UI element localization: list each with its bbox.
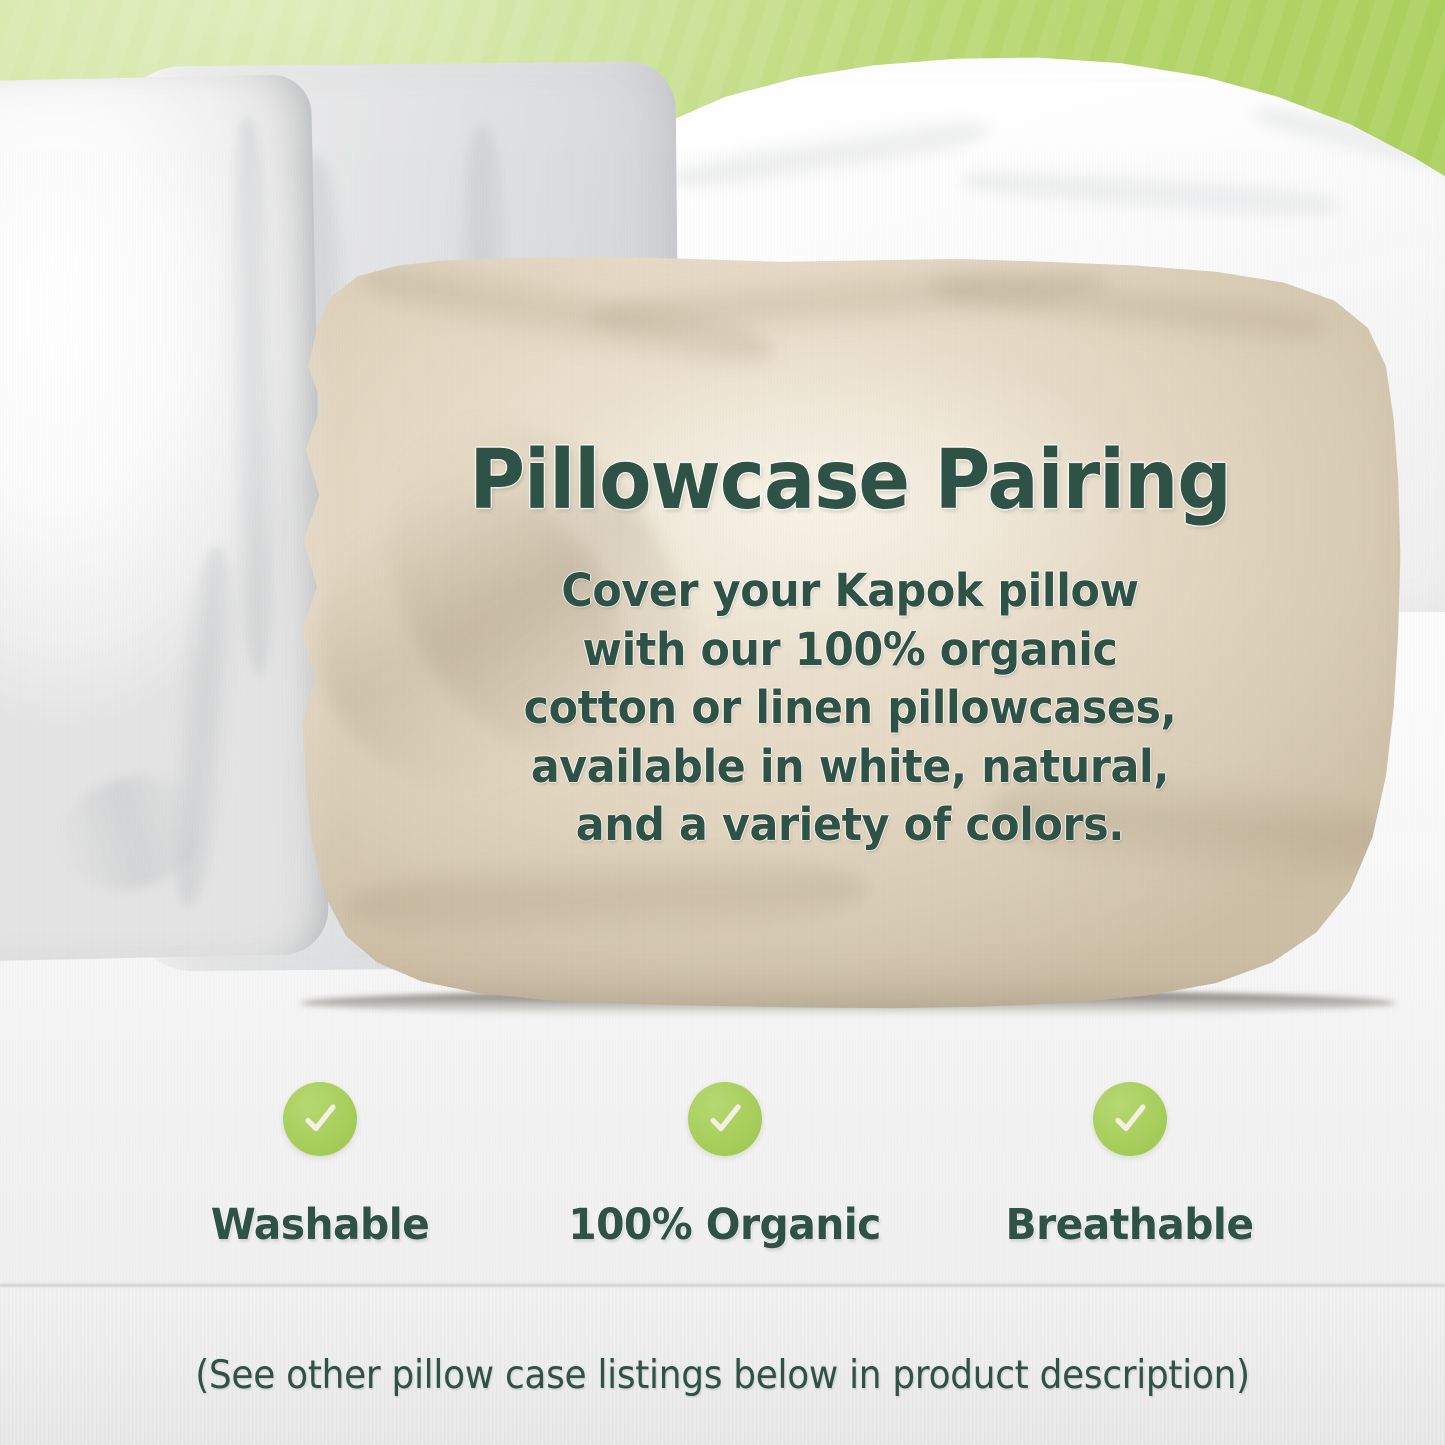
- feature-label: 100% Organic: [569, 1204, 882, 1247]
- feature-badge-row: Washable 100% Organic Breathable: [120, 1082, 1330, 1247]
- white-pillow-front-left: [0, 74, 329, 962]
- feature-label: Washable: [211, 1204, 430, 1247]
- body-line-3: cotton or linen pillowcases,: [356, 679, 1344, 738]
- check-circle-icon: [283, 1082, 357, 1156]
- body-copy: Cover your Kapok pillow with our 100% or…: [356, 562, 1344, 855]
- pillow-crease: [668, 107, 991, 202]
- footer-caption: (See other pillow case listings below in…: [58, 1356, 1387, 1395]
- feature-organic: 100% Organic: [525, 1082, 925, 1247]
- feature-washable: Washable: [120, 1082, 520, 1247]
- body-line-5: and a variety of colors.: [356, 796, 1344, 855]
- pillow-crease: [959, 159, 1341, 227]
- pillow-fold: [587, 252, 1110, 348]
- check-circle-icon: [1093, 1082, 1167, 1156]
- body-line-2: with our 100% organic: [356, 621, 1344, 680]
- headline: Pillowcase Pairing: [366, 440, 1333, 522]
- product-infographic: Pillowcase Pairing Cover your Kapok pill…: [0, 0, 1445, 1445]
- pillow-copy-block: Pillowcase Pairing Cover your Kapok pill…: [330, 440, 1370, 855]
- pillow-fold: [347, 843, 870, 951]
- body-line-4: available in white, natural,: [356, 738, 1344, 797]
- feature-label: Breathable: [1006, 1204, 1254, 1247]
- body-line-1: Cover your Kapok pillow: [356, 562, 1344, 621]
- mattress-seam: [0, 1283, 1445, 1288]
- check-circle-icon: [688, 1082, 762, 1156]
- feature-breathable: Breathable: [930, 1082, 1330, 1247]
